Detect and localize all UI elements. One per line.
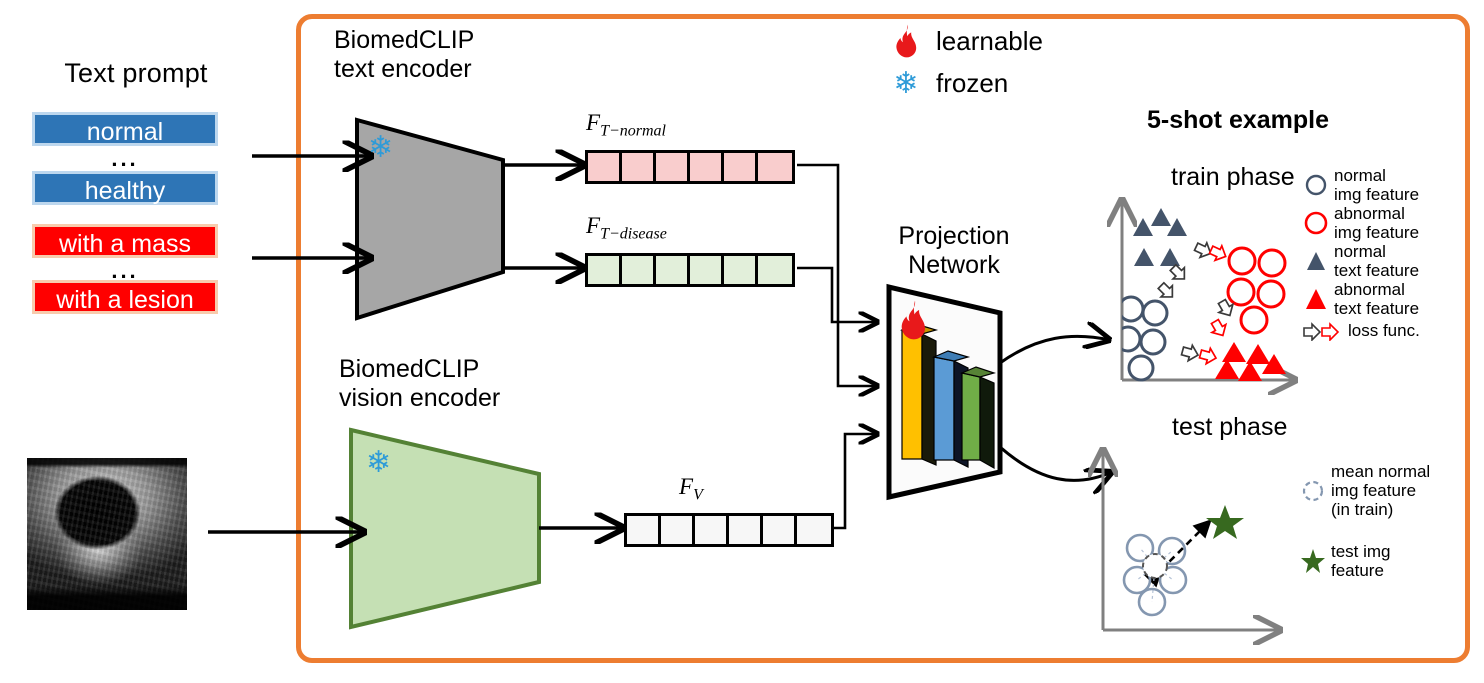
train-phase-legend: normal img feature abnormal img feature … (1303, 166, 1420, 341)
legend-item-normal-img-feature: normal img feature (1303, 166, 1420, 204)
series-abnormal-img-feature (1228, 248, 1285, 333)
legend-text: mean normal (1331, 462, 1430, 481)
projection-title-line2: Network (884, 251, 1024, 280)
legend-label-learnable: learnable (936, 26, 1043, 57)
status-legend: learnable ❄ frozen (892, 24, 1043, 99)
route-ftnormal-to-projection (797, 165, 878, 386)
legend-text: loss func. (1348, 321, 1420, 340)
test-img-feature-star (1206, 505, 1244, 539)
train-phase-caption: train phase (1171, 163, 1295, 192)
circle-outline-slate-icon (1303, 166, 1329, 204)
legend-text: feature (1331, 561, 1391, 580)
f-t-disease-vector (585, 253, 795, 287)
projection-bar-yellow (902, 324, 936, 465)
f-v-vector (624, 513, 834, 547)
arrow-projection-to-train-plot (1000, 336, 1110, 363)
test-phase-scatter (1103, 470, 1303, 630)
projection-title-line1: Projection (884, 222, 1024, 251)
legend-text: text feature (1334, 261, 1419, 280)
five-shot-title: 5-shot example (1147, 106, 1329, 135)
test-phase-caption: test phase (1172, 413, 1287, 442)
snowflake-icon: ❄ (366, 448, 391, 478)
legend-text: abnormal (1334, 280, 1419, 299)
circle-dashed-slate-icon (1300, 463, 1326, 519)
series-abnormal-text-feature (1215, 342, 1286, 381)
legend-item-abnormal-img-feature: abnormal img feature (1303, 204, 1420, 242)
snowflake-icon: ❄ (892, 69, 920, 99)
legend-text: img feature (1331, 481, 1430, 500)
legend-label-frozen: frozen (936, 68, 1008, 99)
legend-text: abnormal (1334, 204, 1419, 223)
legend-item-normal-text-feature: normal text feature (1303, 242, 1420, 280)
arrow-projection-to-test-plot (1000, 447, 1112, 480)
mean-normal-img-feature-marker (1143, 554, 1167, 578)
f-t-normal-vector (585, 150, 795, 184)
double-arrow-loss-icon (1303, 319, 1343, 341)
legend-text: normal (1334, 166, 1419, 185)
train-phase-scatter (1122, 196, 1302, 386)
legend-text: normal (1334, 242, 1419, 261)
legend-text: (in train) (1331, 500, 1430, 519)
snowflake-icon: ❄ (368, 133, 393, 163)
triangle-red-icon (1303, 280, 1329, 318)
star-green-icon (1300, 541, 1326, 581)
circle-outline-red-icon (1303, 204, 1329, 242)
legend-item-loss-func: loss func. (1303, 319, 1420, 341)
legend-row-learnable: learnable (892, 24, 1043, 58)
legend-row-frozen: ❄ frozen (892, 68, 1043, 99)
f-t-disease-label: FT−disease (586, 213, 667, 244)
legend-text: img feature (1334, 223, 1419, 242)
legend-text: test img (1331, 542, 1391, 561)
flame-icon (896, 300, 930, 340)
legend-text: img feature (1334, 185, 1419, 204)
legend-text: text feature (1334, 299, 1419, 318)
legend-item-abnormal-text-feature: abnormal text feature (1303, 280, 1420, 318)
f-t-normal-label: FT−normal (586, 110, 666, 141)
flame-icon (892, 24, 920, 58)
test-phase-legend: mean normal img feature (in train) test … (1300, 462, 1430, 581)
triangle-slate-icon (1303, 242, 1329, 280)
f-v-label: FV (679, 474, 703, 505)
projection-bar-green (962, 367, 994, 468)
legend-item-test-img-feature: test img feature (1300, 541, 1430, 581)
series-normal-text-feature (1133, 208, 1187, 266)
projection-network-title: Projection Network (884, 222, 1024, 280)
series-normal-img-feature (1122, 297, 1167, 380)
legend-item-mean-normal-img-feature: mean normal img feature (in train) (1300, 462, 1430, 519)
